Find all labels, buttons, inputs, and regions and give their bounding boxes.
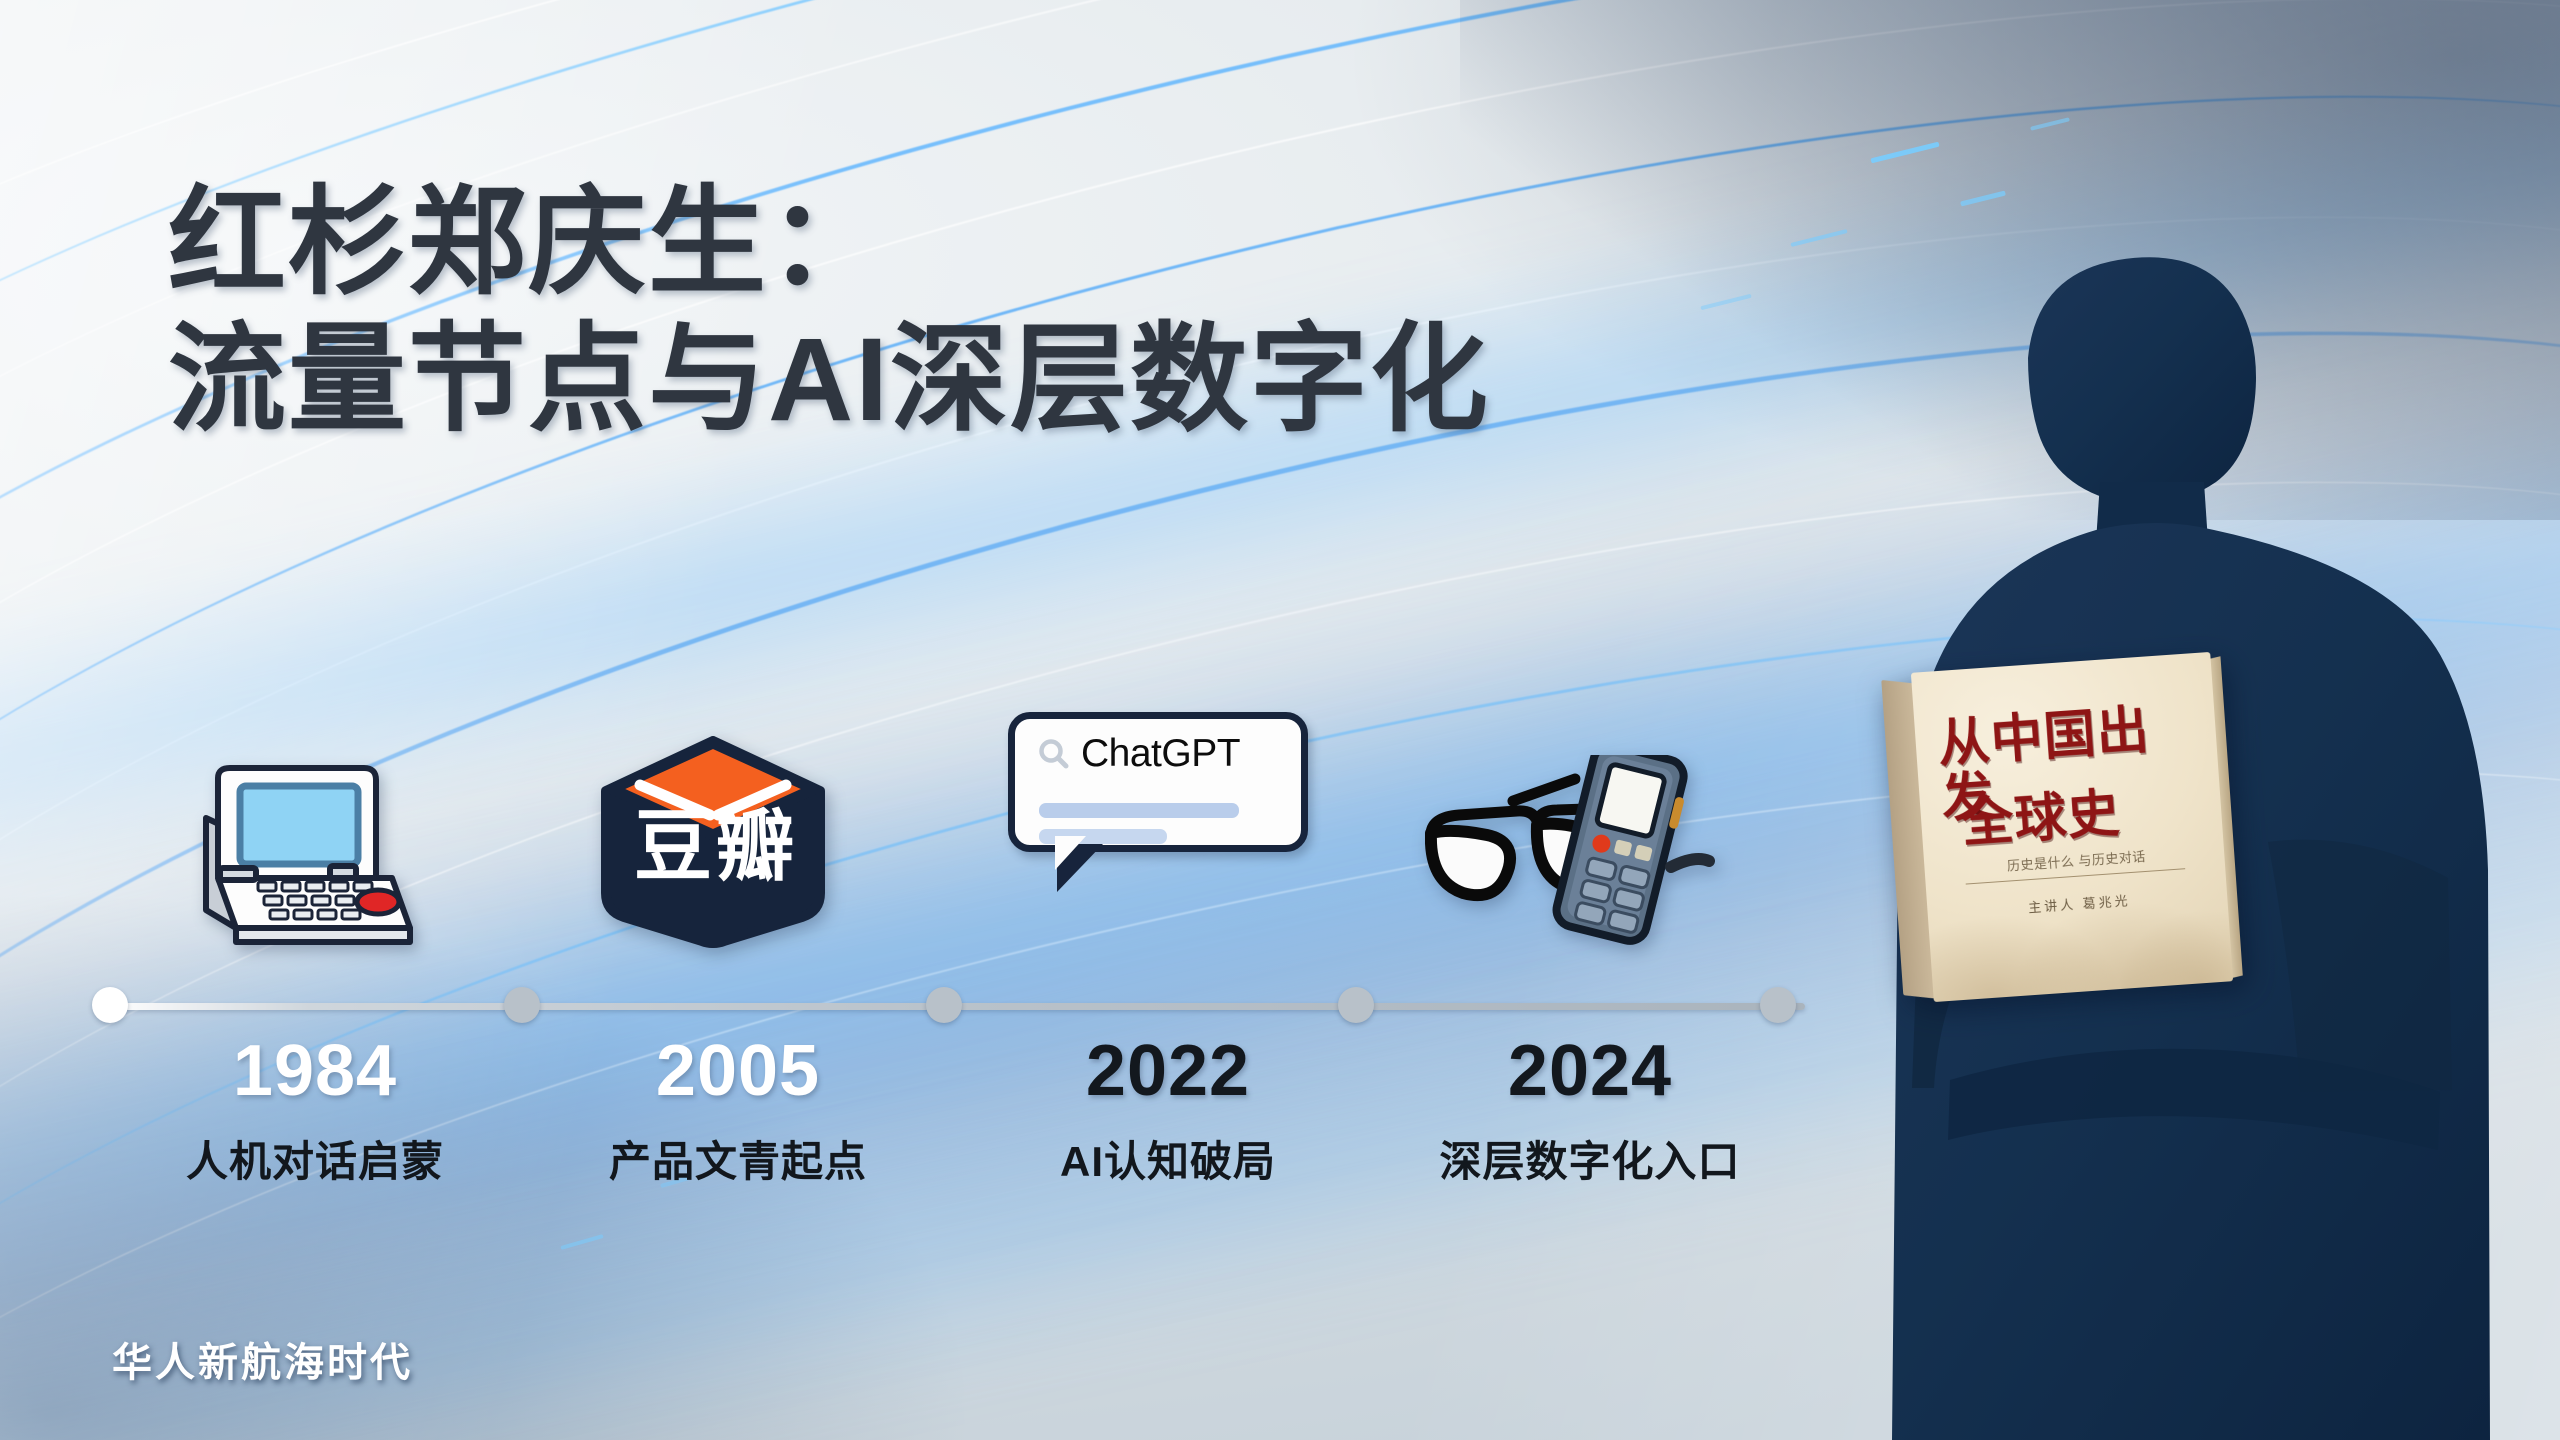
title-line-2: 流量节点与AI深层数字化 [168, 312, 1490, 449]
poster-title: 红杉郑庆生： 流量节点与AI深层数字化 [168, 175, 1490, 449]
book-cover: 从中国出发 全球史 历史是什么 与历史对话 主讲人 葛兆光 [1911, 652, 2233, 1002]
bubble-text-bar [1039, 803, 1239, 818]
glasses-pda-icon [1425, 755, 1725, 935]
book-author: 主讲人 葛兆光 [1979, 887, 2180, 920]
title-line-1: 红杉郑庆生： [168, 175, 1490, 312]
book-title-line-2: 全球史 [1959, 765, 2204, 857]
douban-logo-icon: 豆 瓣 [598, 735, 828, 945]
bubble-tail [1057, 844, 1103, 892]
person-silhouette: 从中国出发 全球史 历史是什么 与历史对话 主讲人 葛兆光 [1800, 230, 2560, 1440]
bottom-caption: 华人新航海时代 [112, 1330, 413, 1388]
douban-char-2: 瓣 [716, 809, 794, 883]
douban-char-1: 豆 [634, 809, 712, 883]
retro-computer-icon [178, 760, 428, 950]
book-divider [1966, 868, 2186, 884]
search-icon [1037, 737, 1071, 771]
book-front-cover: 从中国出发 全球史 历史是什么 与历史对话 主讲人 葛兆光 [1911, 652, 2233, 1002]
chatgpt-label: ChatGPT [1081, 732, 1240, 776]
poster-canvas: 红杉郑庆生： 流量节点与AI深层数字化 [0, 0, 2560, 1440]
